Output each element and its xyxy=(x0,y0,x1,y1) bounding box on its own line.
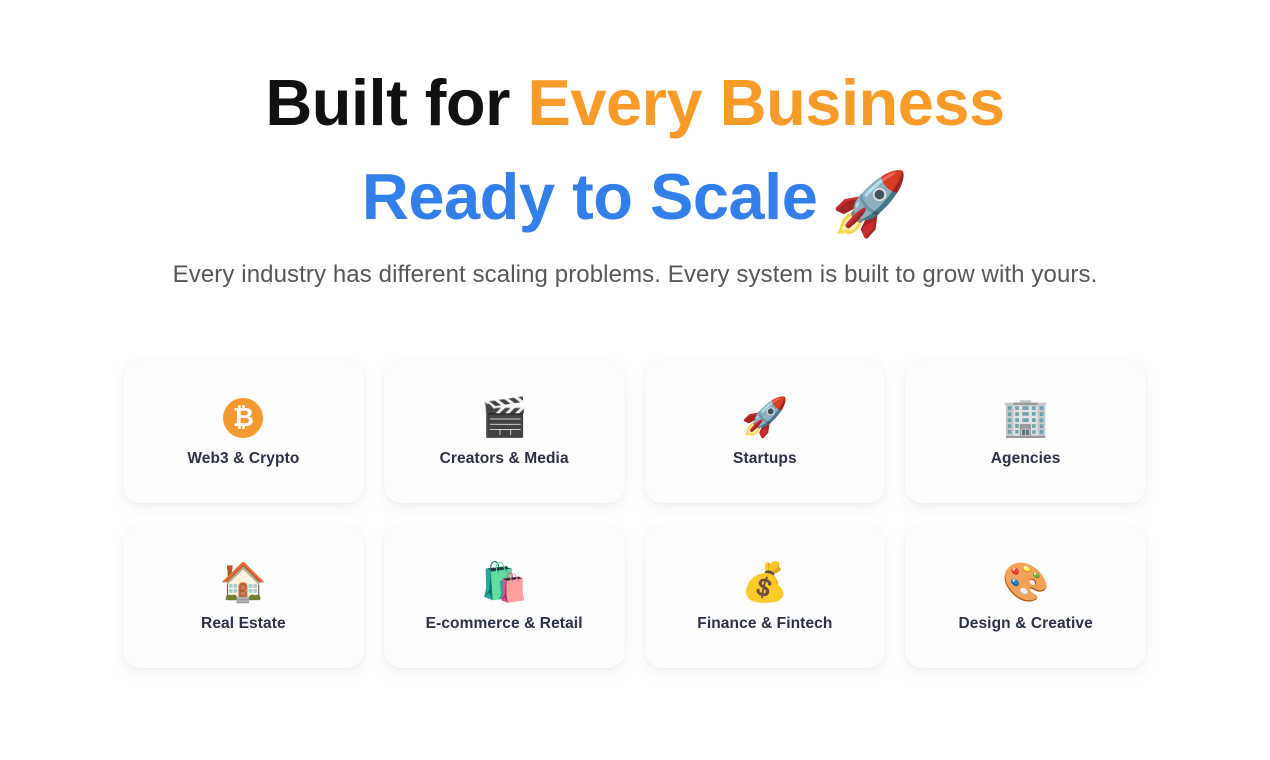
heading-plain-text: Built for xyxy=(265,66,527,139)
industry-card-label: Design & Creative xyxy=(958,615,1092,633)
industry-card-finance-fintech[interactable]: 💰 Finance & Fintech xyxy=(645,525,886,668)
rocket-emoji: 🚀 xyxy=(831,174,908,236)
rocket-icon: 🚀 xyxy=(741,396,788,440)
industry-card-label: Real Estate xyxy=(201,615,286,633)
industry-card-grid: ₿ Web3 & Crypto 🎬 Creators & Media 🚀 Sta… xyxy=(123,360,1146,668)
industry-card-label: Startups xyxy=(733,450,797,468)
industry-card-design-creative[interactable]: 🎨 Design & Creative xyxy=(905,525,1146,668)
artist-palette-icon: 🎨 xyxy=(1002,561,1049,605)
industry-card-agencies[interactable]: 🏢 Agencies xyxy=(905,360,1146,503)
industry-card-label: Agencies xyxy=(991,450,1061,468)
industry-card-web3-crypto[interactable]: ₿ Web3 & Crypto xyxy=(123,360,364,503)
bitcoin-icon: ₿ xyxy=(223,396,263,440)
page-subtitle: Every industry has different scaling pro… xyxy=(0,261,1270,289)
industry-card-real-estate[interactable]: 🏠 Real Estate xyxy=(123,525,364,668)
shopping-bags-icon: 🛍️ xyxy=(480,561,527,605)
heading-highlight-ready-to-scale: Ready to Scale xyxy=(362,160,817,233)
industry-card-label: Creators & Media xyxy=(440,450,569,468)
heading-line-1: Built for Every Business xyxy=(0,56,1270,150)
heading-line-2: Ready to Scale🚀 xyxy=(0,150,1270,244)
house-icon: 🏠 xyxy=(220,561,267,605)
industry-card-label: E-commerce & Retail xyxy=(426,615,583,633)
industry-card-label: Web3 & Crypto xyxy=(187,450,299,468)
money-bag-icon: 💰 xyxy=(741,561,788,605)
heading-highlight-every-business: Every Business xyxy=(528,66,1005,139)
clapper-board-icon: 🎬 xyxy=(480,396,527,440)
industries-section: Built for Every Business Ready to Scale🚀… xyxy=(0,0,1270,760)
bitcoin-glyph: ₿ xyxy=(223,398,263,438)
industry-card-startups[interactable]: 🚀 Startups xyxy=(645,360,886,503)
industry-card-ecommerce-retail[interactable]: 🛍️ E-commerce & Retail xyxy=(384,525,625,668)
office-building-icon: 🏢 xyxy=(1002,396,1049,440)
page-title: Built for Every Business Ready to Scale🚀 xyxy=(0,56,1270,243)
industry-card-creators-media[interactable]: 🎬 Creators & Media xyxy=(384,360,625,503)
industry-card-label: Finance & Fintech xyxy=(697,615,832,633)
